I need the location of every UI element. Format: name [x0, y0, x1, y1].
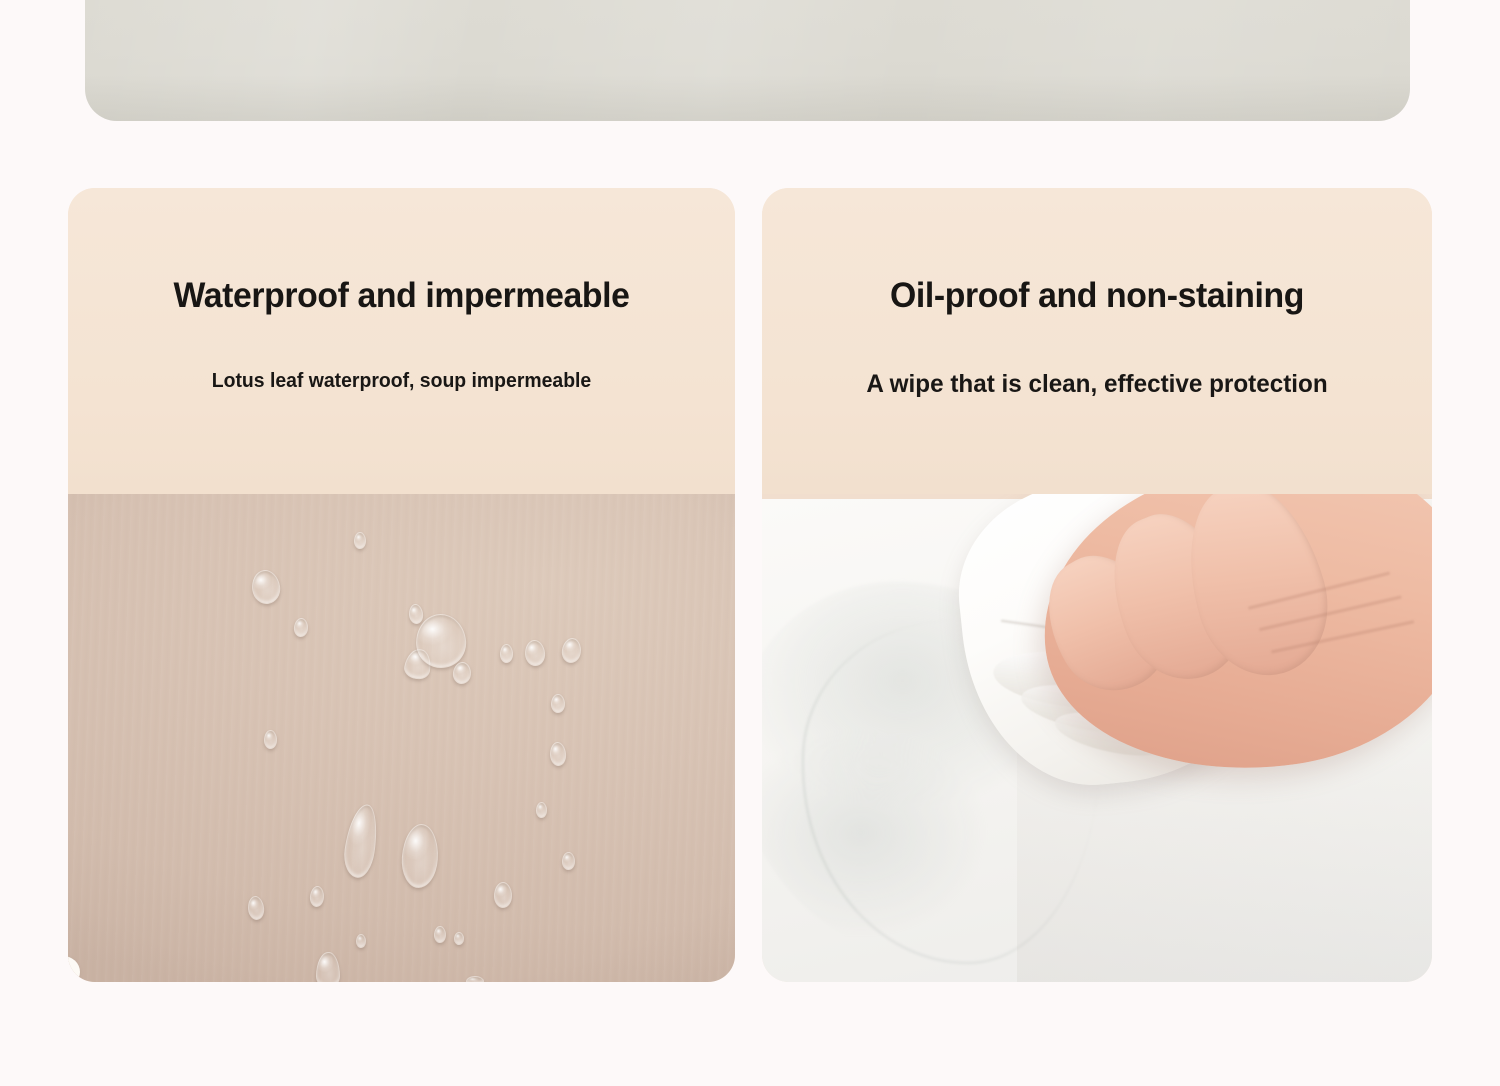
- droplet-surface: [68, 494, 735, 982]
- water-droplets-photo: [68, 494, 735, 982]
- white-table-surface: [762, 494, 1432, 982]
- hand-wiping-photo: [762, 494, 1432, 982]
- cropped-product-banner: [85, 0, 1410, 121]
- feature-card-waterproof[interactable]: Waterproof and impermeable Lotus leaf wa…: [68, 188, 735, 982]
- banner-bottom-shade: [85, 75, 1410, 121]
- photo-vignette: [68, 494, 735, 982]
- page-root: Waterproof and impermeable Lotus leaf wa…: [0, 0, 1500, 1086]
- card-head-waterproof: Waterproof and impermeable Lotus leaf wa…: [68, 188, 735, 494]
- white-flower-edge-decor: [68, 956, 100, 982]
- card-title-oilproof: Oil-proof and non-staining: [774, 276, 1421, 316]
- feature-card-row: Waterproof and impermeable Lotus leaf wa…: [68, 188, 1432, 982]
- card-head-oilproof: Oil-proof and non-staining A wipe that i…: [762, 188, 1432, 494]
- card-title-waterproof: Waterproof and impermeable: [80, 276, 724, 316]
- card-subtitle-oilproof: A wipe that is clean, effective protecti…: [772, 370, 1422, 399]
- feature-card-oilproof[interactable]: Oil-proof and non-staining A wipe that i…: [762, 188, 1432, 982]
- card-subtitle-waterproof: Lotus leaf waterproof, soup impermeable: [78, 370, 725, 393]
